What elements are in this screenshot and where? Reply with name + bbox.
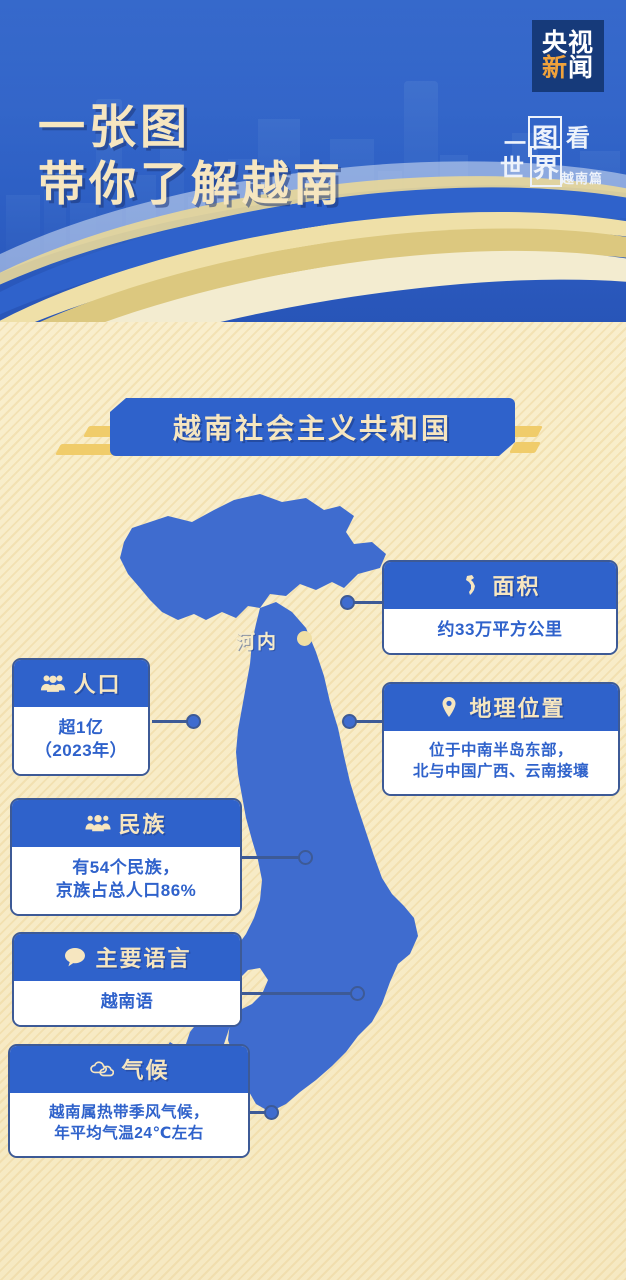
info-card-geo[interactable]: 地理位置 位于中南半岛东部， 北与中国广西、云南接壤 <box>382 682 620 796</box>
card-header-geo: 地理位置 <box>384 684 618 731</box>
info-card-ethnic[interactable]: 民族 有54个民族， 京族占总人口86% <box>10 798 242 916</box>
connector-node-language <box>350 986 365 1001</box>
capital-label: 河内 <box>236 627 278 654</box>
card-header-ethnic: 民族 <box>12 800 240 847</box>
info-card-climate[interactable]: 气候 越南属热带季风气候， 年平均气温24℃左右 <box>8 1044 250 1158</box>
page-title: 一张图 带你了解越南 <box>38 98 344 213</box>
logo-line-2: 新闻 <box>542 56 594 81</box>
connector-node-area <box>340 595 355 610</box>
infographic-page: 一张图 带你了解越南 央视 新闻 一 图 看 世 界 越南篇 越南社会主义共和国 <box>0 0 626 1280</box>
connector-population <box>152 720 190 723</box>
info-card-area[interactable]: 面积 约33万平方公里 <box>382 560 618 655</box>
card-title-climate: 气候 <box>121 1053 169 1085</box>
card-title-area: 面积 <box>492 569 540 601</box>
card-body-ethnic: 有54个民族， 京族占总人口86% <box>12 847 240 914</box>
card-header-language: 主要语言 <box>14 934 240 981</box>
speech-bubble-icon <box>62 945 88 969</box>
stamp-char-kan: 看 <box>566 118 590 153</box>
section-banner: 越南社会主义共和国 <box>0 398 626 466</box>
section-banner-title: 越南社会主义共和国 <box>173 407 452 447</box>
info-card-population[interactable]: 人口 超1亿 （2023年） <box>12 658 150 776</box>
header-banner: 一张图 带你了解越南 央视 新闻 一 图 看 世 界 越南篇 <box>0 0 626 322</box>
banner-chip-right-2 <box>509 442 541 453</box>
vietnam-map-icon <box>459 573 485 597</box>
logo-char-wen: 闻 <box>568 54 594 82</box>
capital-dot-icon <box>297 631 312 646</box>
connector-node-climate <box>264 1105 279 1120</box>
people-group-icon <box>85 811 111 835</box>
section-banner-plate: 越南社会主义共和国 <box>110 398 515 456</box>
stamp-subtitle: 越南篇 <box>561 168 603 187</box>
card-body-climate: 越南属热带季风气候， 年平均气温24℃左右 <box>10 1093 248 1156</box>
cloud-icon <box>88 1057 114 1081</box>
connector-node-geo <box>342 714 357 729</box>
connector-ethnic <box>242 856 302 859</box>
series-stamp-logo: 一 图 看 世 界 越南篇 <box>498 112 604 194</box>
card-header-population: 人口 <box>14 660 148 707</box>
connector-node-population <box>186 714 201 729</box>
info-card-language[interactable]: 主要语言 越南语 <box>12 932 242 1027</box>
card-body-geo: 位于中南半岛东部， 北与中国广西、云南接壤 <box>384 731 618 794</box>
card-title-language: 主要语言 <box>95 941 191 973</box>
connector-node-ethnic <box>298 850 313 865</box>
stamp-char-shi: 世 <box>500 148 524 183</box>
people-icon <box>40 671 66 695</box>
card-header-climate: 气候 <box>10 1046 248 1093</box>
card-body-population: 超1亿 （2023年） <box>14 707 148 774</box>
card-title-geo: 地理位置 <box>469 691 565 723</box>
location-pin-icon <box>436 695 462 719</box>
card-body-area: 约33万平方公里 <box>384 609 616 653</box>
logo-char-xin: 新 <box>542 54 568 82</box>
card-title-population: 人口 <box>73 667 121 699</box>
card-header-area: 面积 <box>384 562 616 609</box>
card-body-language: 越南语 <box>14 981 240 1025</box>
card-title-ethnic: 民族 <box>118 807 166 839</box>
connector-language <box>242 992 354 995</box>
logo-line-1: 央视 <box>542 31 594 56</box>
cctv-news-logo: 央视 新闻 <box>532 20 604 92</box>
stamp-char-jie: 界 <box>530 146 562 187</box>
